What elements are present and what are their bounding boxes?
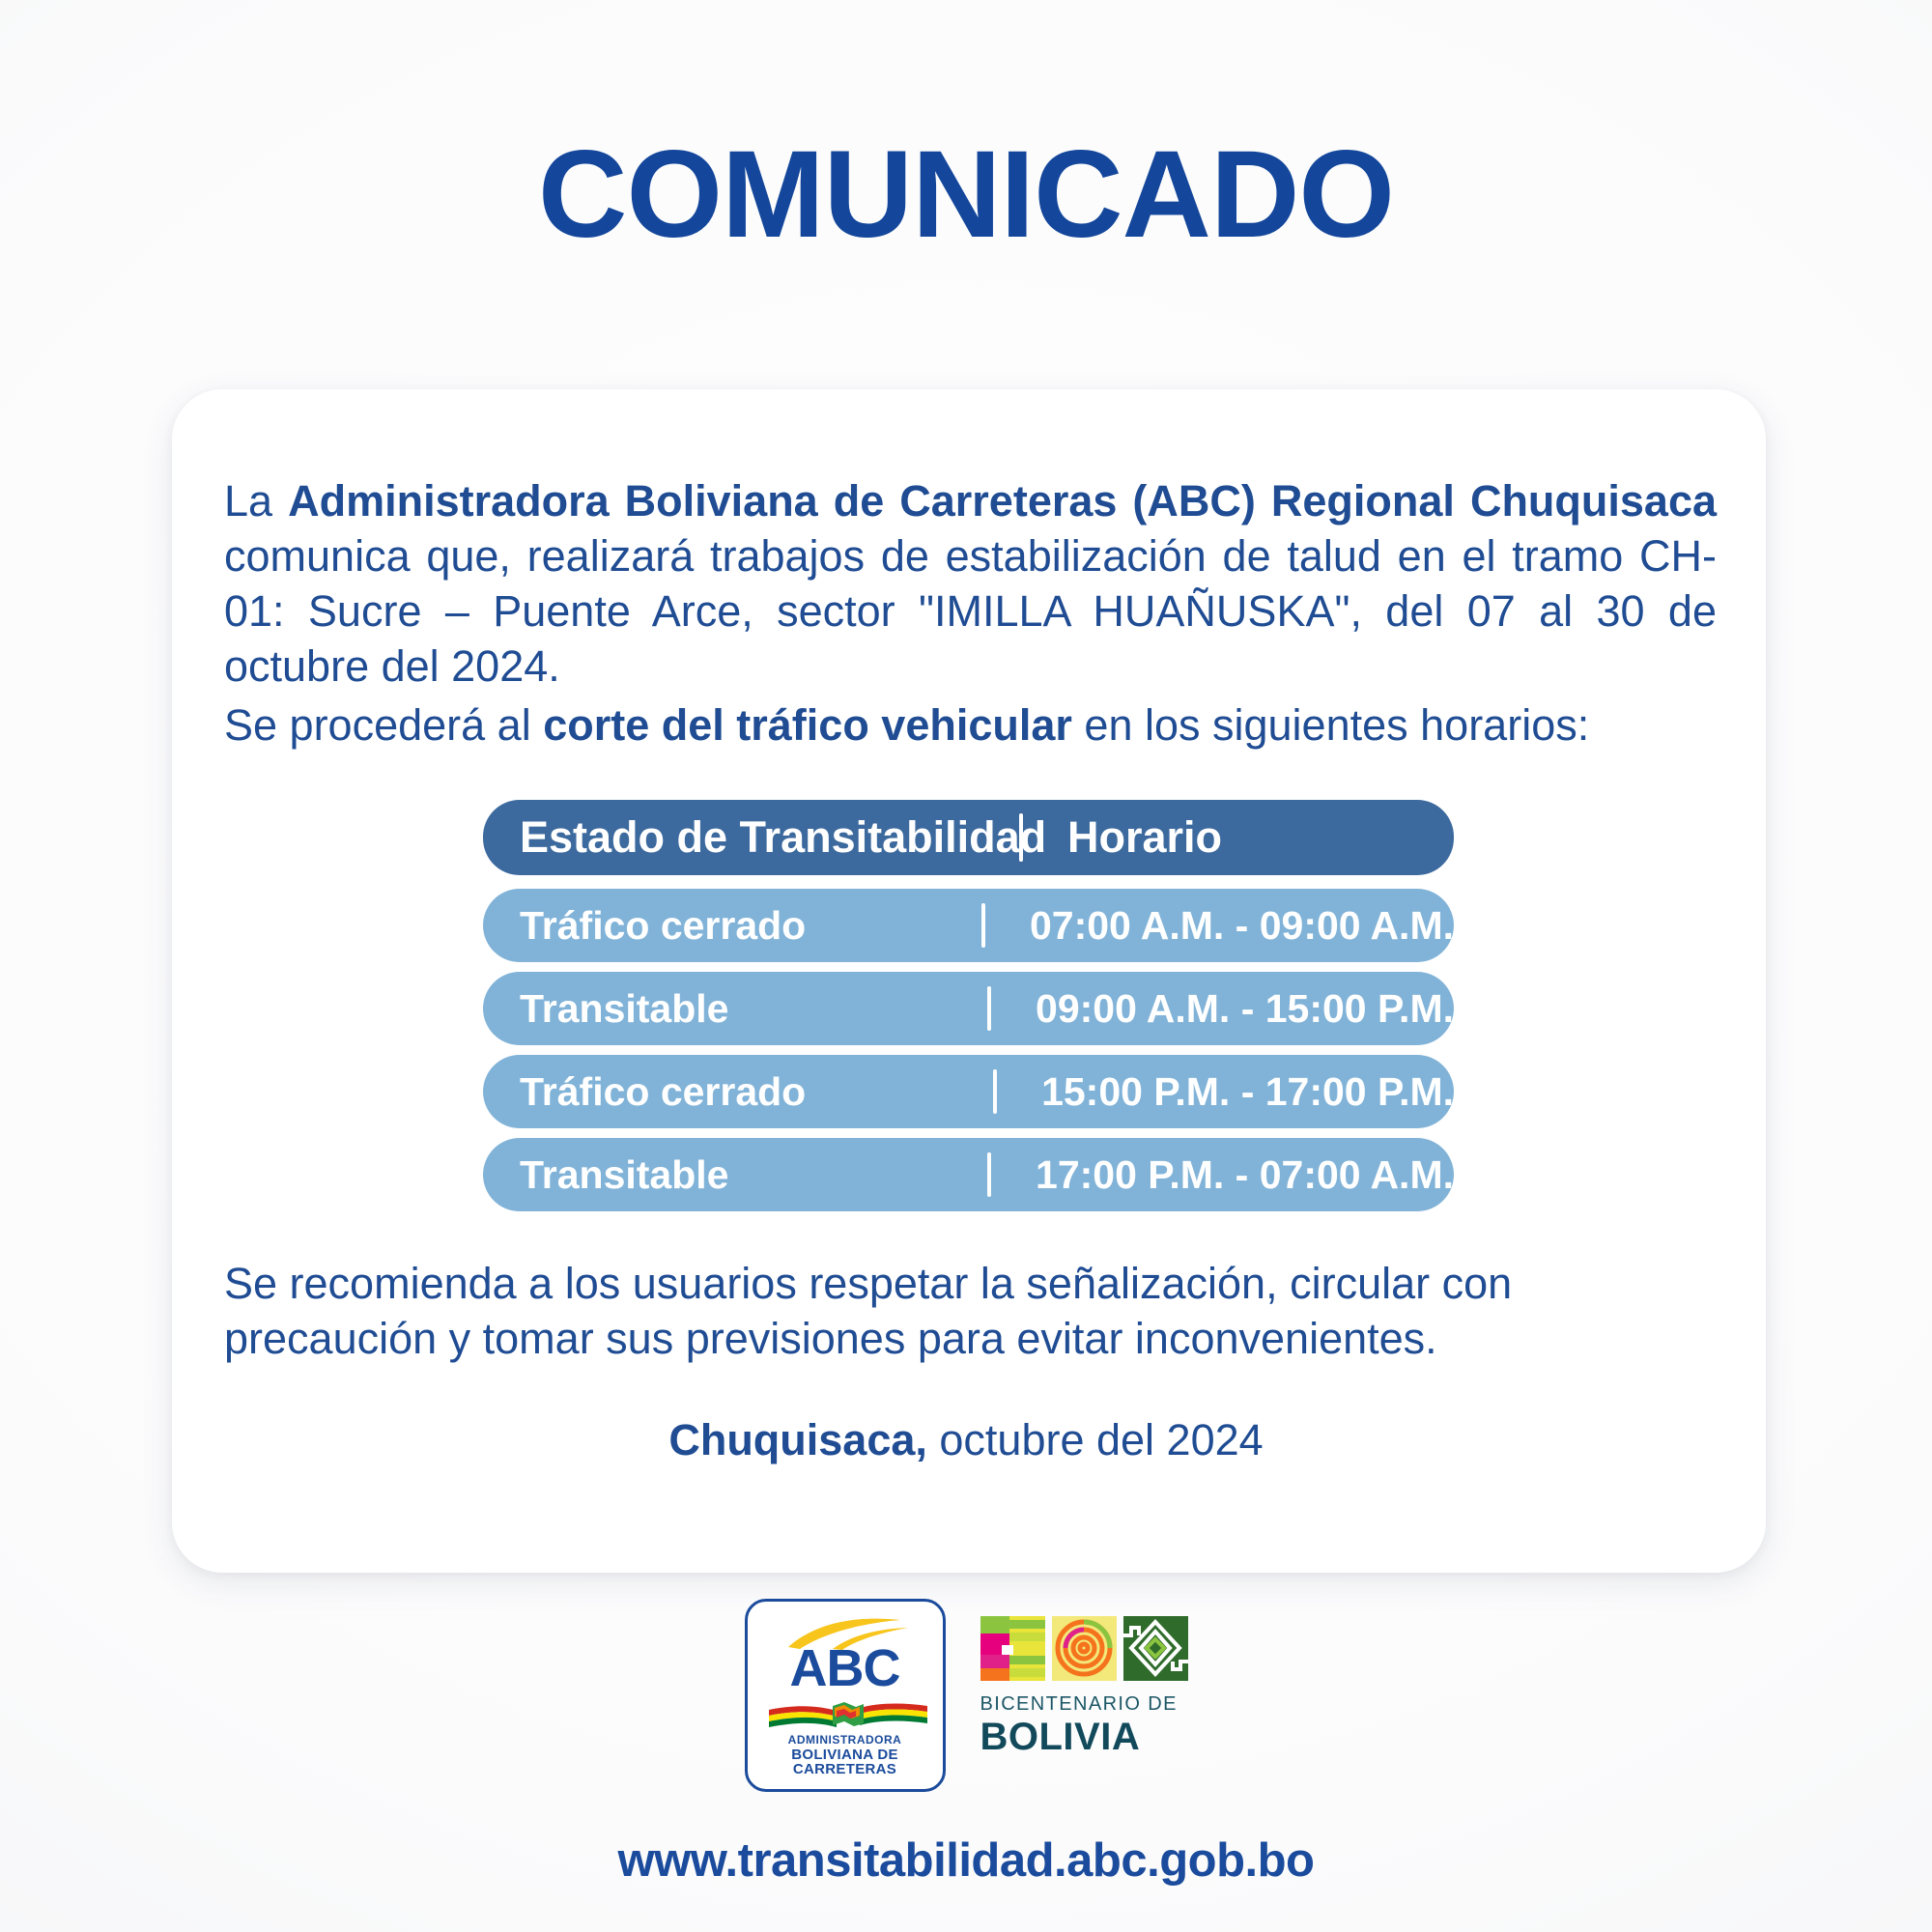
cell-horario: 07:00 A.M. - 09:00 A.M. bbox=[985, 903, 1454, 949]
table-header-row: Estado de Transitabilidad Horario bbox=[483, 800, 1454, 875]
cell-estado: Tráfico cerrado bbox=[483, 903, 981, 949]
cell-estado: Transitable bbox=[483, 986, 987, 1032]
cell-estado: Tráfico cerrado bbox=[483, 1069, 993, 1115]
bolivia-flag-ribbon-icon bbox=[769, 1702, 927, 1727]
bicentenario-tile-textile-icon bbox=[980, 1616, 1045, 1681]
poster-background: COMUNICADO La Administradora Boliviana d… bbox=[0, 0, 1932, 1932]
bicentenario-tile-diamond-icon bbox=[1123, 1616, 1188, 1681]
column-header-horario: Horario bbox=[1023, 812, 1454, 863]
abc-logo: ABC ADMINISTRADORA BOLIVIANA DE CARRETER… bbox=[745, 1599, 946, 1792]
paragraph1-rest: comunica que, realizará trabajos de esta… bbox=[224, 531, 1717, 691]
recommendation-paragraph: Se recomienda a los usuarios respetar la… bbox=[224, 1256, 1717, 1366]
bicentenario-line2: BOLIVIA bbox=[980, 1718, 1188, 1756]
table-row: Transitable 09:00 A.M. - 15:00 P.M. bbox=[483, 972, 1454, 1045]
abc-subtitle-line2: BOLIVIANA DE bbox=[748, 1747, 943, 1762]
announcement-paragraph: La Administradora Boliviana de Carretera… bbox=[224, 473, 1717, 694]
abc-subtitle-line1: ADMINISTRADORA bbox=[748, 1733, 943, 1747]
paragraph2-rest: en los siguientes horarios: bbox=[1072, 700, 1589, 750]
abc-subtitle-line3: CARRETERAS bbox=[748, 1762, 943, 1776]
table-row: Tráfico cerrado 15:00 P.M. - 17:00 P.M. bbox=[483, 1055, 1454, 1128]
signoff-place: Chuquisaca, bbox=[668, 1415, 927, 1464]
schedule-intro-paragraph: Se procederá al corte del tráfico vehicu… bbox=[224, 697, 1717, 753]
column-header-estado: Estado de Transitabilidad bbox=[483, 812, 1019, 863]
table-row: Transitable 17:00 P.M. - 07:00 A.M. bbox=[483, 1138, 1454, 1211]
signoff-date: octubre del 2024 bbox=[927, 1415, 1264, 1464]
paragraph1-lead: La bbox=[224, 476, 288, 526]
cell-horario: 17:00 P.M. - 07:00 A.M. bbox=[991, 1152, 1454, 1198]
logo-strip: ABC ADMINISTRADORA BOLIVIANA DE CARRETER… bbox=[0, 1599, 1932, 1792]
bicentenario-logo: BICENTENARIO DE BOLIVIA bbox=[980, 1599, 1188, 1756]
schedule-table: Estado de Transitabilidad Horario Tráfic… bbox=[483, 800, 1454, 1221]
abc-subtitle: ADMINISTRADORA BOLIVIANA DE CARRETERAS bbox=[748, 1733, 943, 1776]
page-title: COMUNICADO bbox=[0, 133, 1932, 257]
cell-estado: Transitable bbox=[483, 1152, 987, 1198]
bicentenario-line1: BICENTENARIO DE bbox=[980, 1694, 1188, 1714]
bicentenario-tile-spiral-icon bbox=[1052, 1616, 1117, 1681]
paragraph2-lead: Se procederá al bbox=[224, 700, 543, 750]
cell-horario: 15:00 P.M. - 17:00 P.M. bbox=[997, 1069, 1454, 1115]
cell-horario: 09:00 A.M. - 15:00 P.M. bbox=[991, 986, 1454, 1032]
bicentenario-tiles bbox=[980, 1616, 1188, 1681]
paragraph2-bold-phrase: corte del tráfico vehicular bbox=[543, 700, 1072, 750]
signoff-line: Chuquisaca, octubre del 2024 bbox=[0, 1415, 1932, 1465]
website-url[interactable]: www.transitabilidad.abc.gob.bo bbox=[0, 1833, 1932, 1888]
abc-wordmark: ABC bbox=[748, 1642, 943, 1694]
paragraph1-bold-entity: Administradora Boliviana de Carreteras (… bbox=[288, 476, 1717, 526]
table-row: Tráfico cerrado 07:00 A.M. - 09:00 A.M. bbox=[483, 889, 1454, 962]
